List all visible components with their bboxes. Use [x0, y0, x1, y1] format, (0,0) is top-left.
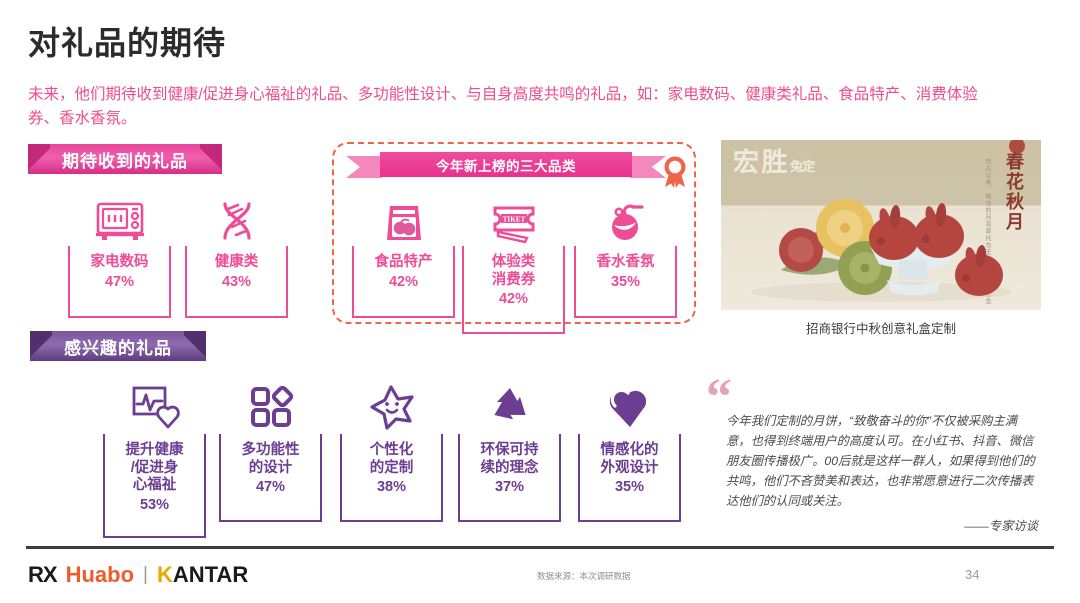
kantar-rest: ANTAR — [173, 562, 248, 587]
section-banner-label: 感兴趣的礼品 — [64, 334, 172, 359]
stat-label-line1: 情感化的 — [582, 442, 677, 460]
star-smile-icon — [340, 374, 443, 432]
stat-item-emotional-design[interactable]: 情感化的 外观设计 35% — [578, 374, 681, 522]
huabo-logo: Huabo — [66, 562, 134, 588]
section-banner-expected-gifts: 期待收到的礼品 — [28, 144, 222, 174]
section-banner-label: 期待收到的礼品 — [62, 147, 188, 172]
stat-item-perfume[interactable]: 香水香氛 35% — [574, 186, 677, 318]
stat-card: 食品特产 42% — [352, 246, 455, 318]
stat-item-health-wellbeing[interactable]: 提升健康 /促进身 心福祉 53% — [103, 374, 206, 538]
stat-card: 情感化的 外观设计 35% — [578, 434, 681, 522]
footer-logos: RX Huabo | KANTAR — [28, 562, 248, 588]
stat-item-food-specialty[interactable]: 食品特产 42% — [352, 186, 455, 318]
kantar-k: K — [157, 562, 173, 587]
stat-item-home-appliance[interactable]: 家电数码 47% — [68, 186, 171, 318]
stat-label-line1: 多功能性 — [223, 442, 318, 460]
stat-label: 健康类 — [189, 254, 284, 272]
photo-caption: 招商银行中秋创意礼盒定制 — [721, 318, 1041, 337]
health-monitor-heart-icon — [103, 374, 206, 432]
stat-label: 食品特产 — [356, 254, 451, 272]
mooncake-gift-photo: 宏 胜 兔 定 春花秋月 自古以来，皎洁的月亮寄托与无限美，分享思念 — [721, 140, 1041, 310]
stat-label-line2: /促进身 — [107, 460, 202, 478]
stat-label-line2: 的定制 — [344, 460, 439, 478]
kantar-logo: KANTAR — [157, 562, 248, 588]
stat-label-line1: 体验类 — [466, 254, 561, 272]
stat-label: 香水香氛 — [578, 254, 673, 272]
page-number: 34 — [965, 567, 979, 582]
stat-card: 提升健康 /促进身 心福祉 53% — [103, 434, 206, 538]
stat-value: 47% — [223, 479, 318, 495]
section-banner-interested-gifts: 感兴趣的礼品 — [30, 331, 206, 361]
stat-value: 53% — [107, 497, 202, 513]
stat-label-line2: 消费券 — [466, 272, 561, 290]
stat-value: 43% — [189, 274, 284, 290]
stat-card: 环保可持 续的理念 37% — [458, 434, 561, 522]
stat-label: 家电数码 — [72, 254, 167, 272]
stat-value: 42% — [466, 291, 561, 307]
perfume-icon — [574, 186, 677, 244]
recycle-icon — [458, 374, 561, 432]
banner-bevel-left — [28, 144, 50, 174]
food-bag-icon — [352, 186, 455, 244]
stat-item-eco-sustainable[interactable]: 环保可持 续的理念 37% — [458, 374, 561, 522]
page-title: 对礼品的期待 — [28, 18, 226, 64]
ticket-icon: TIKET — [462, 186, 565, 244]
stat-label-line2: 的设计 — [223, 460, 318, 478]
dna-icon — [185, 186, 288, 244]
quote-attribution: ——专家访谈 — [726, 516, 1038, 534]
microwave-icon — [68, 186, 171, 244]
stat-card: 香水香氛 35% — [574, 246, 677, 318]
stat-label-line1: 环保可持 — [462, 442, 557, 460]
stat-item-personalized-custom[interactable]: 个性化 的定制 38% — [340, 374, 443, 522]
source-note: 数据来源：本次调研数据 — [537, 570, 631, 582]
ribbon-label: 今年新上榜的三大品类 — [380, 152, 632, 177]
stat-card: 个性化 的定制 38% — [340, 434, 443, 522]
stat-label-line1: 提升健康 — [107, 442, 202, 460]
stat-value: 38% — [344, 479, 439, 495]
stat-label-line2: 续的理念 — [462, 460, 557, 478]
stat-value: 42% — [356, 274, 451, 290]
stat-card: 家电数码 47% — [68, 246, 171, 318]
svg-text:TIKET: TIKET — [502, 216, 525, 224]
banner-bevel-right — [184, 331, 206, 361]
stat-value: 35% — [578, 274, 673, 290]
stat-label-line3: 心福祉 — [107, 477, 202, 495]
stat-value: 37% — [462, 479, 557, 495]
banner-bevel-left — [30, 331, 52, 361]
banner-bevel-right — [200, 144, 222, 174]
photo-scene-illustration — [721, 140, 1041, 310]
stat-item-health[interactable]: 健康类 43% — [185, 186, 288, 318]
footer-divider — [26, 546, 1054, 549]
stat-value: 35% — [582, 479, 677, 495]
stat-item-experience-voucher[interactable]: TIKET 体验类 消费券 42% — [462, 186, 565, 334]
stat-label-line1: 个性化 — [344, 442, 439, 460]
stat-card: 体验类 消费券 42% — [462, 246, 565, 334]
stat-item-multifunctional-design[interactable]: 多功能性 的设计 47% — [219, 374, 322, 522]
stat-card: 健康类 43% — [185, 246, 288, 318]
heart-aesthetic-icon — [578, 374, 681, 432]
page-subtitle: 未来，他们期待收到健康/促进身心福祉的礼品、多功能性设计、与自身高度共鸣的礼品，… — [28, 83, 988, 131]
stat-label-line2: 外观设计 — [582, 460, 677, 478]
stat-card: 多功能性 的设计 47% — [219, 434, 322, 522]
quote-text: 今年我们定制的月饼，“致敬奋斗的你”不仅被采购主满意，也得到终端用户的高度认可。… — [726, 412, 1038, 512]
product-photo-block: 宏 胜 兔 定 春花秋月 自古以来，皎洁的月亮寄托与无限美，分享思念 — [721, 140, 1041, 337]
stat-value: 47% — [72, 274, 167, 290]
highlight-ribbon: 今年新上榜的三大品类 — [380, 152, 632, 177]
logo-divider: | — [143, 564, 148, 586]
rx-logo: RX — [28, 562, 57, 588]
multifunction-shapes-icon — [219, 374, 322, 432]
